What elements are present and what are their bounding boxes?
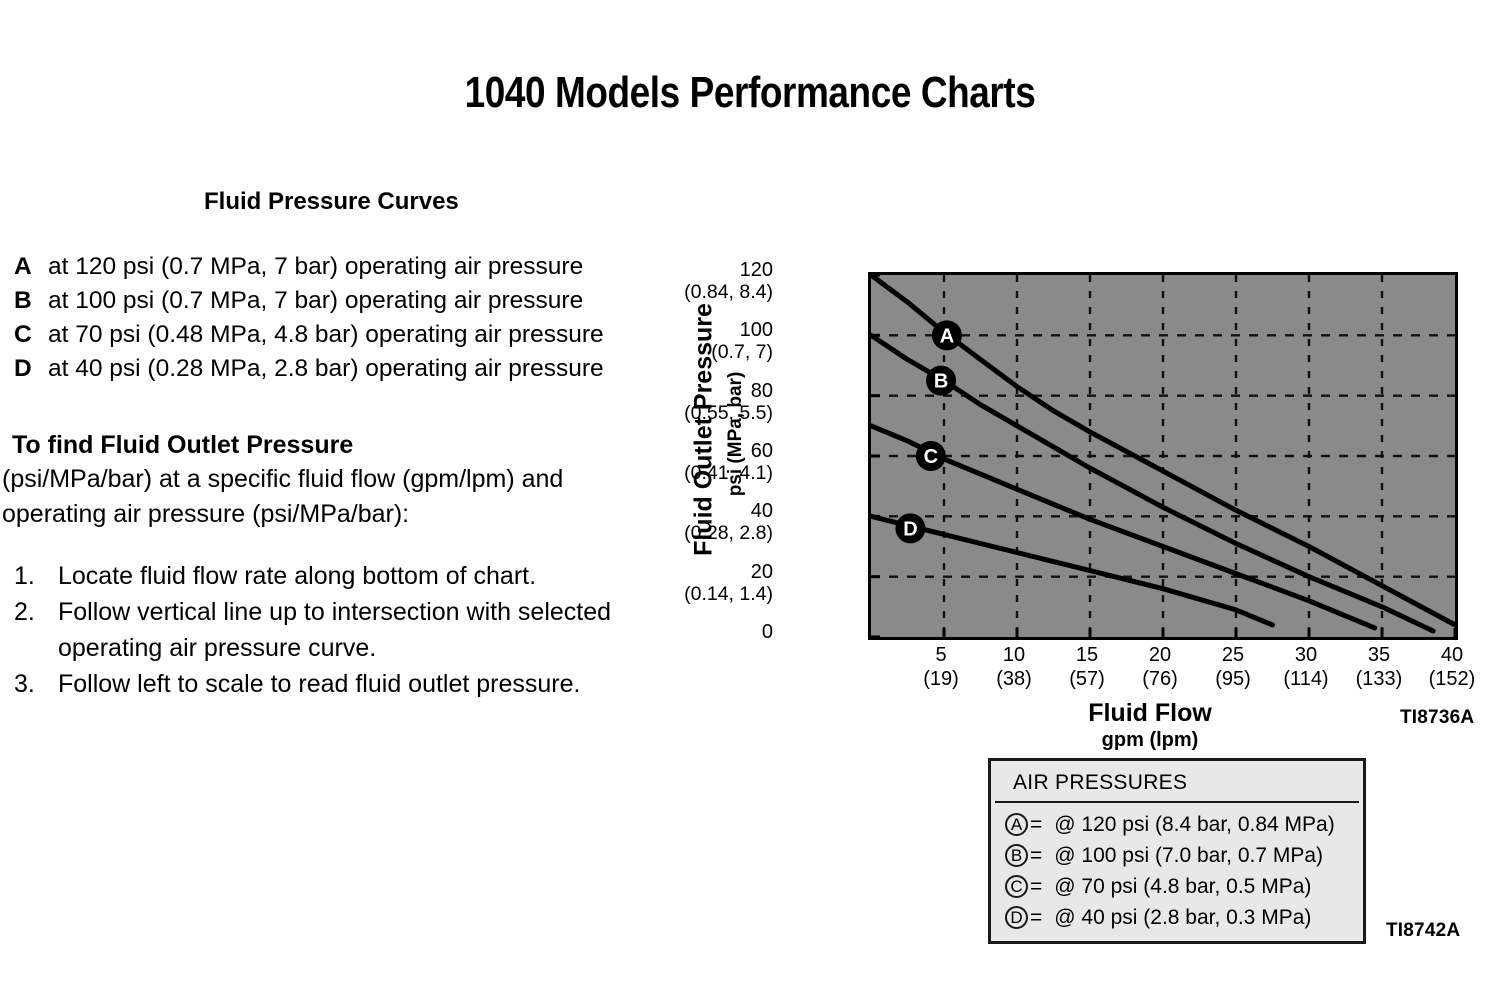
step-text-3: Follow left to scale to read fluid outle… (58, 666, 714, 702)
air-pressures-title: AIR PRESSURES (995, 771, 1359, 803)
step-item-2: 2. Follow vertical line up to intersecti… (14, 594, 714, 666)
y-tick-0: 0 (762, 621, 773, 643)
y-tick-value: 80 (684, 380, 773, 402)
curve-legend-item-c: C at 70 psi (0.48 MPa, 4.8 bar) operatin… (14, 318, 714, 352)
curve-legend-item-a: A at 120 psi (0.7 MPa, 7 bar) operating … (14, 250, 714, 284)
find-outlet-pressure-title: To find Fluid Outlet Pressure (12, 428, 714, 462)
y-tick-value: 20 (684, 561, 773, 583)
circle-d-icon: D (1005, 906, 1028, 929)
chart-code-label: TI8736A (1400, 707, 1474, 729)
air-pressure-text-c: @ 70 psi (4.8 bar, 0.5 MPa) (1054, 871, 1311, 902)
find-outlet-pressure-block: To find Fluid Outlet Pressure (psi/MPa/b… (14, 428, 714, 532)
page-title: 1040 Models Performance Charts (120, 68, 1380, 118)
air-box-code-label: TI8742A (1386, 920, 1460, 942)
steps-list: 1. Locate fluid flow rate along bottom o… (14, 558, 714, 702)
fluid-pressure-curves-heading: Fluid Pressure Curves (204, 188, 714, 216)
air-pressure-text-b: @ 100 psi (7.0 bar, 0.7 MPa) (1054, 840, 1323, 871)
step-number-1: 1. (14, 558, 58, 594)
y-tick-value: 0 (762, 621, 773, 643)
step-text-2: Follow vertical line up to intersection … (58, 594, 714, 666)
y-tick-value: 60 (684, 440, 773, 462)
air-pressures-legend-box: AIR PRESSURES A = @ 120 psi (8.4 bar, 0.… (988, 758, 1366, 944)
air-equals-d: = (1030, 902, 1042, 933)
curve-legend-text-d: at 40 psi (0.28 MPa, 2.8 bar) operating … (48, 352, 604, 386)
y-tick-conversion: (0.41, 4.1) (684, 462, 773, 484)
air-equals-a: = (1030, 809, 1042, 840)
curve-marker-label: C (924, 446, 938, 468)
curve-legend-key-b: B (14, 284, 48, 318)
step-number-2: 2. (14, 594, 58, 666)
air-equals-b: = (1030, 840, 1042, 871)
circle-c-icon: C (1005, 875, 1028, 898)
x-tick-value: 40 (1407, 643, 1497, 667)
y-tick-value: 40 (684, 500, 773, 522)
step-number-3: 3. (14, 666, 58, 702)
y-tick-conversion: (0.84, 8.4) (684, 281, 773, 303)
step-text-1: Locate fluid flow rate along bottom of c… (58, 558, 714, 594)
y-tick-conversion: (0.14, 1.4) (684, 583, 773, 605)
air-pressure-row-c: C = @ 70 psi (4.8 bar, 0.5 MPa) (991, 871, 1363, 902)
air-equals-c: = (1030, 871, 1042, 902)
curve-marker-label: D (903, 518, 917, 540)
curve-marker-label: A (940, 325, 954, 347)
curve-legend-text-c: at 70 psi (0.48 MPa, 4.8 bar) operating … (48, 318, 604, 352)
curve-marker-a: A (932, 320, 962, 350)
y-tick-value: 100 (711, 319, 773, 341)
step-item-3: 3. Follow left to scale to read fluid ou… (14, 666, 714, 702)
y-tick-conversion: (0.55, 5.5) (684, 402, 773, 424)
x-axis-title: Fluid Flow (1000, 699, 1300, 728)
curve-legend-text-a: at 120 psi (0.7 MPa, 7 bar) operating ai… (48, 250, 583, 284)
y-tick-conversion: (0.7, 7) (711, 341, 773, 363)
plot-area: ABCD (868, 272, 1458, 640)
curve-legend-key-a: A (14, 250, 48, 284)
curve-legend-item-b: B at 100 psi (0.7 MPa, 7 bar) operating … (14, 284, 714, 318)
y-tick-20: 20(0.14, 1.4) (684, 561, 773, 605)
step-item-1: 1. Locate fluid flow rate along bottom o… (14, 558, 714, 594)
y-axis-title: Fluid Outlet Pressure (690, 260, 719, 600)
find-outlet-pressure-line-1: (psi/MPa/bar) at a specific fluid flow (… (2, 462, 714, 497)
circle-a-icon: A (1005, 813, 1028, 836)
air-pressure-text-d: @ 40 psi (2.8 bar, 0.3 MPa) (1054, 902, 1311, 933)
y-tick-value: 120 (684, 259, 773, 281)
curve-marker-c: C (916, 441, 946, 471)
curve-marker-b: B (926, 366, 956, 396)
air-pressure-row-d: D = @ 40 psi (2.8 bar, 0.3 MPa) (991, 902, 1363, 933)
x-tick-40: 40(152) (1407, 643, 1497, 691)
curve-marker-d: D (895, 513, 925, 543)
performance-chart: Fluid Outlet Pressure psi (MPa, bar) 120… (700, 255, 1490, 755)
y-tick-40: 40(0.28, 2.8) (684, 500, 773, 544)
x-tick-conversion: (152) (1407, 667, 1497, 691)
curve-marker-label: B (934, 371, 948, 393)
curves-svg: ABCD (871, 275, 1455, 637)
air-pressure-row-b: B = @ 100 psi (7.0 bar, 0.7 MPa) (991, 840, 1363, 871)
curve-legend-key-c: C (14, 318, 48, 352)
circle-b-icon: B (1005, 844, 1028, 867)
x-axis-units: gpm (lpm) (1000, 729, 1300, 752)
air-pressure-text-a: @ 120 psi (8.4 bar, 0.84 MPa) (1054, 809, 1334, 840)
instructions-panel: Fluid Pressure Curves A at 120 psi (0.7 … (14, 188, 714, 702)
curve-legend-key-d: D (14, 352, 48, 386)
find-outlet-pressure-line-2: operating air pressure (psi/MPa/bar): (2, 497, 714, 532)
curve-legend-item-d: D at 40 psi (0.28 MPa, 2.8 bar) operatin… (14, 352, 714, 386)
y-tick-60: 60(0.41, 4.1) (684, 440, 773, 484)
air-pressure-row-a: A = @ 120 psi (8.4 bar, 0.84 MPa) (991, 809, 1363, 840)
curve-legend-text-b: at 100 psi (0.7 MPa, 7 bar) operating ai… (48, 284, 583, 318)
y-tick-conversion: (0.28, 2.8) (684, 522, 773, 544)
y-tick-100: 100(0.7, 7) (711, 319, 773, 363)
y-tick-80: 80(0.55, 5.5) (684, 380, 773, 424)
y-tick-120: 120(0.84, 8.4) (684, 259, 773, 303)
curve-legend-list: A at 120 psi (0.7 MPa, 7 bar) operating … (14, 250, 714, 386)
